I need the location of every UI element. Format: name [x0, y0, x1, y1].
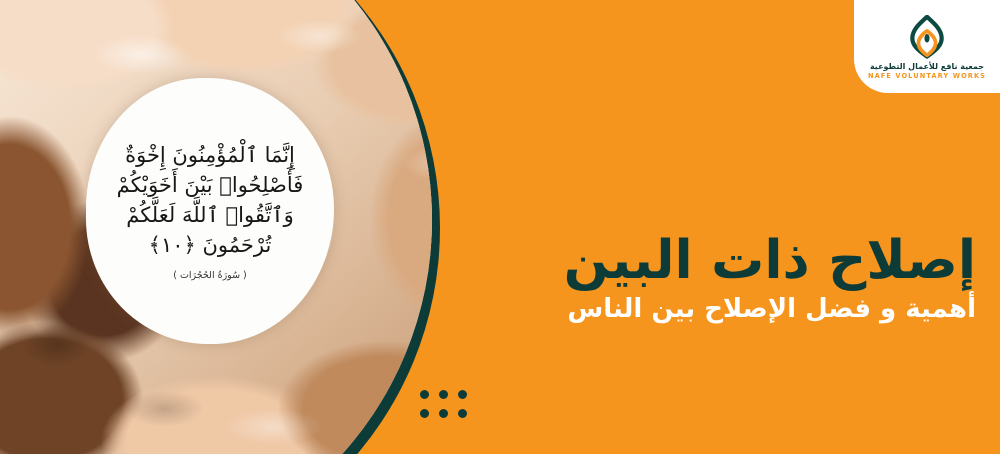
quran-verse-source: ( سُورَةُ الحُجُرَات ) [173, 270, 247, 281]
dot-icon [420, 390, 429, 399]
six-dots-decoration [420, 390, 468, 419]
quran-verse-text: إِنَّمَا ٱلْمُؤْمِنُونَ إِخْوَةٌ فَأَصْل… [92, 141, 328, 260]
page-title: إصلاح ذات البين [506, 232, 976, 289]
nafe-flame-logo-icon [907, 15, 947, 59]
dot-icon [458, 409, 467, 418]
hands-photo: إِنَّمَا ٱلْمُؤْمِنُونَ إِخْوَةٌ فَأَصْل… [0, 0, 432, 454]
logo-badge: جمعية نافع للأعمال التطوعية NAFE VOLUNTA… [854, 0, 1000, 93]
photo-composition: إِنَّمَا ٱلْمُؤْمِنُونَ إِخْوَةٌ فَأَصْل… [0, 0, 470, 454]
dot-icon [420, 409, 429, 418]
headline-block: إصلاح ذات البين أهمية و فضل الإصلاح بين … [506, 232, 976, 325]
photo-clip-mask: إِنَّمَا ٱلْمُؤْمِنُونَ إِخْوَةٌ فَأَصْل… [0, 0, 432, 454]
page-subtitle: أهمية و فضل الإصلاح بين الناس [506, 295, 976, 325]
dot-icon [458, 390, 467, 399]
quran-page: إِنَّمَا ٱلْمُؤْمِنُونَ إِخْوَةٌ فَأَصْل… [86, 78, 334, 344]
promo-banner: إِنَّمَا ٱلْمُؤْمِنُونَ إِخْوَةٌ فَأَصْل… [0, 0, 1000, 454]
logo-arabic-name: جمعية نافع للأعمال التطوعية [870, 62, 984, 71]
dot-icon [439, 409, 448, 418]
dot-icon [439, 390, 448, 399]
logo-english-name: NAFE VOLUNTARY WORKS [868, 72, 986, 80]
